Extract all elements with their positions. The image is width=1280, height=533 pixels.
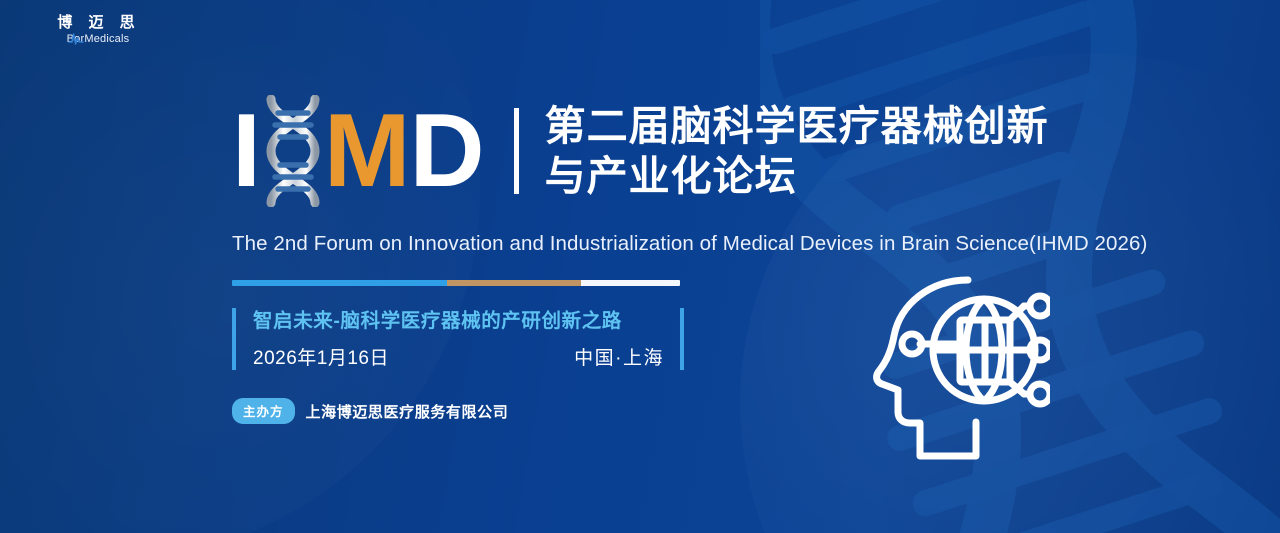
slogan-right-bar [680, 308, 684, 370]
acronym-letter-d: D [410, 99, 484, 203]
acronym-letter-m: M [324, 99, 410, 203]
divider-segment-white [581, 280, 680, 286]
event-banner: 博 迈 思 BorMedicals I [0, 0, 1280, 533]
event-location: 中国·上海 [574, 343, 664, 370]
event-title-en: The 2nd Forum on Innovation and Industri… [232, 232, 1062, 256]
slogan-inner: 智启未来-脑科学医疗器械的产研创新之路 2026年1月16日 中国·上海 [236, 308, 680, 370]
brain-circuit-head-icon [872, 272, 1050, 464]
event-date: 2026年1月16日 [253, 343, 389, 370]
event-title-cn: 第二届脑科学医疗器械创新 与产业化论坛 [545, 101, 1049, 201]
title-separator-bar [514, 108, 519, 194]
organizer-badge: 主办方 [232, 398, 295, 424]
event-meta-row: 2026年1月16日 中国·上海 [253, 343, 664, 370]
brand-logo: 博 迈 思 BorMedicals [22, 14, 172, 45]
brand-name-cn: 博 迈 思 [22, 14, 172, 31]
organizer-name: 上海博迈思医疗服务有限公司 [306, 401, 509, 422]
event-slogan: 智启未来-脑科学医疗器械的产研创新之路 [253, 308, 664, 334]
dna-helix-icon [260, 95, 326, 207]
title-row: I [232, 96, 1062, 206]
event-acronym-logo: I [232, 101, 484, 201]
slogan-block: 智启未来-脑科学医疗器械的产研创新之路 2026年1月16日 中国·上海 [232, 308, 684, 370]
acronym-letter-i: I [232, 99, 260, 203]
divider-segment-tan [447, 280, 581, 286]
tricolor-divider [232, 280, 680, 286]
brand-name-en: BorMedicals [67, 33, 130, 45]
divider-segment-blue [232, 280, 447, 286]
brand-name-en-wrapper: BorMedicals [22, 33, 172, 45]
